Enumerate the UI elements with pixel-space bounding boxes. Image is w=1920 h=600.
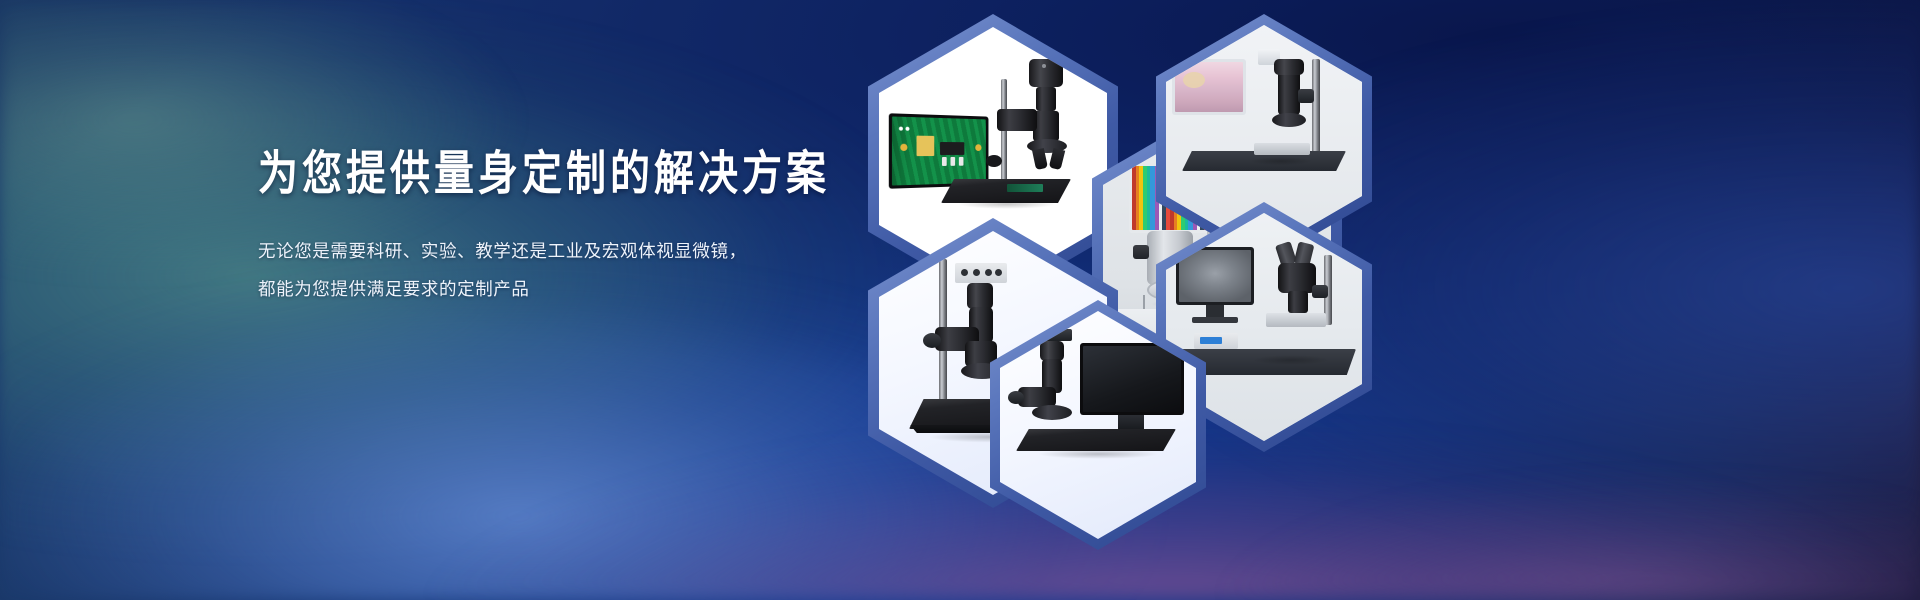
microscope-column (1001, 79, 1007, 187)
camera-mount (1274, 59, 1304, 75)
ring-illuminator (1032, 405, 1072, 420)
focus-knob (986, 155, 1002, 167)
coarse-focus-knob (1312, 285, 1328, 298)
pcb-pad-left (900, 144, 907, 151)
led-dot-1 (961, 269, 968, 276)
objective-tube (1288, 291, 1308, 313)
camera-indicator (1042, 64, 1046, 68)
measuring-stage (1266, 313, 1326, 327)
pcb-screen: ●● (892, 116, 986, 185)
pcb-monitor: ●● (889, 113, 989, 189)
banner-copy-block: 为您提供量身定制的解决方案 无论您是需要科研、实验、教学还是工业及宏观体视显微镜… (258, 148, 878, 308)
product-shadow (1012, 447, 1184, 461)
banner-headline: 为您提供量身定制的解决方案 (258, 148, 878, 200)
pink-screen-sample (1183, 72, 1205, 88)
product-shadow (937, 197, 1077, 211)
pcb-pin-2 (950, 157, 955, 166)
monitor-foot (1192, 317, 1238, 323)
banner-subtitle-line-2: 都能为您提供满足要求的定制产品 (258, 270, 878, 308)
hex-photo-digital-microscope-dark-monitor (1000, 311, 1196, 539)
base-glass-plate (1007, 184, 1043, 192)
led-dot-2 (973, 269, 980, 276)
hex-gallery: ●● (820, 0, 1380, 520)
product-shadow (1236, 353, 1346, 367)
pcb-chip-black (940, 142, 964, 155)
led-dot-3 (985, 269, 992, 276)
lens-barrel-upper (1036, 87, 1056, 111)
dark-monitor (1080, 343, 1184, 415)
pcb-pad-right (975, 144, 981, 151)
pcb-pin-3 (959, 157, 964, 166)
dark-screen (1083, 346, 1181, 412)
photo-digital-microscope-dark-monitor (1000, 311, 1196, 539)
product-shadow (1236, 155, 1326, 167)
vertical-post (1312, 59, 1320, 155)
pink-screen (1175, 62, 1243, 112)
led-dot-4 (995, 269, 1002, 276)
camera-module (967, 283, 993, 309)
focus-block (997, 109, 1037, 131)
focus-knob (923, 333, 941, 348)
monitor-neck (1206, 305, 1224, 317)
banner-subtitle-line-1: 无论您是需要科研、实验、教学还是工业及宏观体视显微镜， (258, 232, 878, 270)
stereo-body-tube (1278, 69, 1300, 115)
grayscale-monitor (1176, 247, 1254, 305)
banner-root: 为您提供量身定制的解决方案 无论您是需要科研、实验、教学还是工业及宏观体视显微镜… (0, 0, 1920, 600)
focus-knob (1008, 391, 1024, 404)
pcb-pin-1 (942, 157, 947, 166)
zoom-knob-left (1133, 245, 1149, 259)
pcb-screen-watermark: ●● (898, 123, 911, 134)
pink-monitor (1172, 59, 1246, 115)
pcb-chip-gold (917, 136, 935, 156)
binocular-head (1278, 263, 1316, 293)
stage-plate (1254, 143, 1310, 155)
height-knob (1298, 89, 1314, 103)
banner-subtitle: 无论您是需要科研、实验、教学还是工业及宏观体视显微镜， 都能为您提供满足要求的定… (258, 232, 878, 308)
grayscale-screen (1179, 250, 1251, 302)
camera-body (1040, 341, 1064, 361)
camera-head (1029, 59, 1063, 87)
readout-display (1200, 337, 1222, 344)
objective-ring (1272, 113, 1306, 127)
